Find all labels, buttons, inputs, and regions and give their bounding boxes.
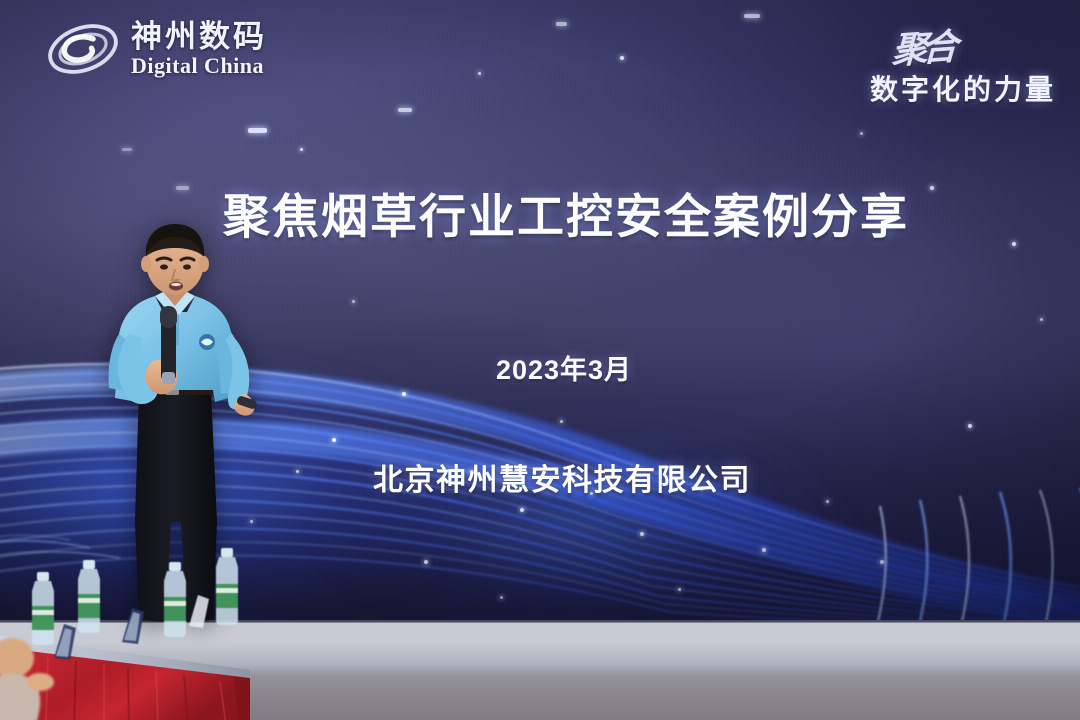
water-bottle [212, 548, 242, 628]
conference-stage-photo: 聚焦烟草行业工控安全案例分享 2023年3月 北京神州慧安科技有限公司 神州数码… [0, 0, 1080, 720]
brand-name-en: Digital China [131, 55, 267, 77]
chest-badge-icon [199, 334, 215, 350]
microphone-icon [160, 306, 177, 384]
foreground-audience-member [0, 636, 84, 720]
name-card-holder [186, 592, 212, 630]
brand-text: 神州数码 Digital China [131, 21, 267, 77]
brand-name-cn: 神州数码 [131, 21, 267, 52]
slogan-brush-text: 聚合 [891, 18, 953, 74]
name-card-holder [118, 604, 148, 646]
spiral-swoosh-icon [44, 18, 122, 80]
slogan-subtitle: 数字化的力量 [870, 68, 1056, 108]
brand-logo: 神州数码 Digital China [44, 18, 267, 80]
event-slogan: 聚合 数字化的力量 [870, 20, 1056, 108]
